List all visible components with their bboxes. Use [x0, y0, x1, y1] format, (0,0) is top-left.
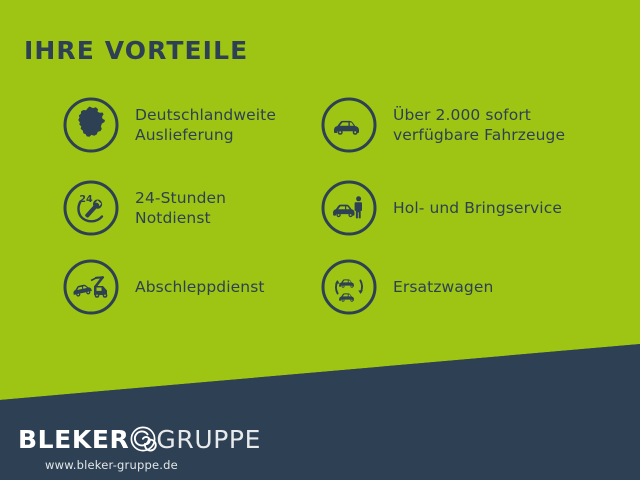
- logo-secondary-text: GRUPPE: [156, 427, 261, 452]
- slide-canvas: IHRE VORTEILE Deutschlandweite Ausliefer…: [0, 0, 640, 480]
- spiral-circle-logo-icon: [128, 424, 158, 454]
- car-and-person-icon: [320, 179, 378, 237]
- feature-item-deutschlandweite-auslieferung[interactable]: Deutschlandweite Auslieferung: [62, 96, 276, 154]
- logo-primary-text: BLEKER: [18, 427, 129, 452]
- icon-text-24: 24: [79, 194, 93, 205]
- car-icon: [320, 96, 378, 154]
- feature-item-abschleppdienst[interactable]: Abschleppdienst: [62, 258, 265, 316]
- feature-item-verfuegbare-fahrzeuge[interactable]: Über 2.000 sofort verfügbare Fahrzeuge: [320, 96, 565, 154]
- feature-label: Über 2.000 sofort verfügbare Fahrzeuge: [393, 105, 565, 146]
- feature-label: Abschleppdienst: [135, 277, 265, 297]
- logo-wordmark: BLEKER GRUPPE: [18, 424, 318, 454]
- 24-hour-wrench-icon: 24: [62, 179, 120, 237]
- feature-label: Hol- und Bringservice: [393, 198, 562, 218]
- feature-label: 24-Stunden Notdienst: [135, 188, 226, 229]
- tow-truck-icon: [62, 258, 120, 316]
- feature-item-ersatzwagen[interactable]: Ersatzwagen: [320, 258, 493, 316]
- germany-map-icon: [62, 96, 120, 154]
- footer-logo[interactable]: BLEKER GRUPPE www.bleker-gruppe.de: [18, 424, 318, 472]
- website-url[interactable]: www.bleker-gruppe.de: [45, 458, 318, 472]
- feature-item-24-stunden-notdienst[interactable]: 24 24-Stunden Notdienst: [62, 179, 226, 237]
- feature-list: Deutschlandweite Auslieferung 24 24-Stun…: [0, 0, 640, 340]
- two-cars-exchange-icon: [320, 258, 378, 316]
- feature-label: Deutschlandweite Auslieferung: [135, 105, 276, 146]
- feature-item-hol-und-bringservice[interactable]: Hol- und Bringservice: [320, 179, 562, 237]
- feature-label: Ersatzwagen: [393, 277, 493, 297]
